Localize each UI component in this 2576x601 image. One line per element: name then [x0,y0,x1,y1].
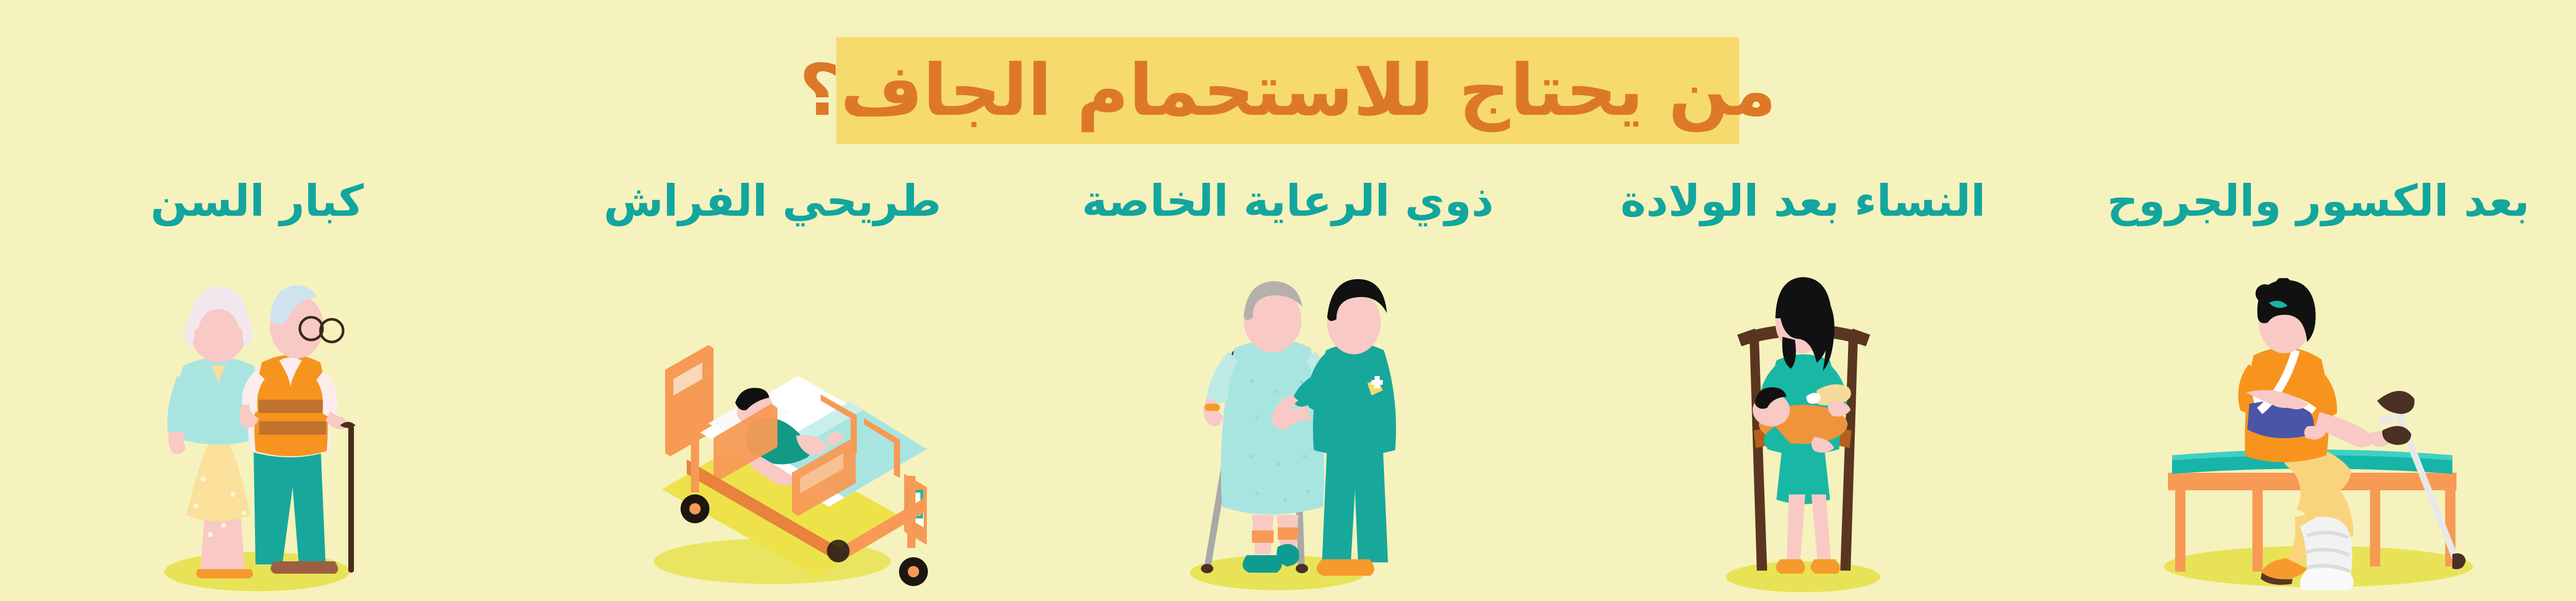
category-label-special-care: ذوي الرعاية الخاصة [1082,170,1494,232]
categories-row: كبار السن [0,170,2576,601]
person-with-arm-sling-leg-cast-on-exam-table-illustration [2143,237,2494,592]
hospital-bed-patient-illustration [613,237,932,592]
category-card-bedridden[interactable]: طريحي الفراش [515,170,1030,592]
category-label-bedridden: طريحي الفراش [604,170,941,232]
title-banner: من يحتاج للاستحمام الجاف؟ [836,37,1739,144]
category-card-elderly[interactable]: كبار السن [0,170,515,592]
category-card-fractures[interactable]: بعد الكسور والجروح [2061,170,2576,592]
page-title: من يحتاج للاستحمام الجاف؟ [799,55,1776,126]
category-label-fractures: بعد الكسور والجروح [2107,170,2530,232]
category-card-postpartum[interactable]: النساء بعد الولادة [1546,170,2061,592]
category-card-special-care[interactable]: ذوي الرعاية الخاصة [1030,170,1545,592]
patient-on-crutches-with-nurse-illustration [1175,237,1401,592]
category-label-elderly: كبار السن [150,170,364,232]
category-label-postpartum: النساء بعد الولادة [1620,170,1986,232]
mother-feeding-baby-on-chair-illustration [1705,237,1901,592]
elderly-couple-with-cane-illustration [146,237,368,592]
